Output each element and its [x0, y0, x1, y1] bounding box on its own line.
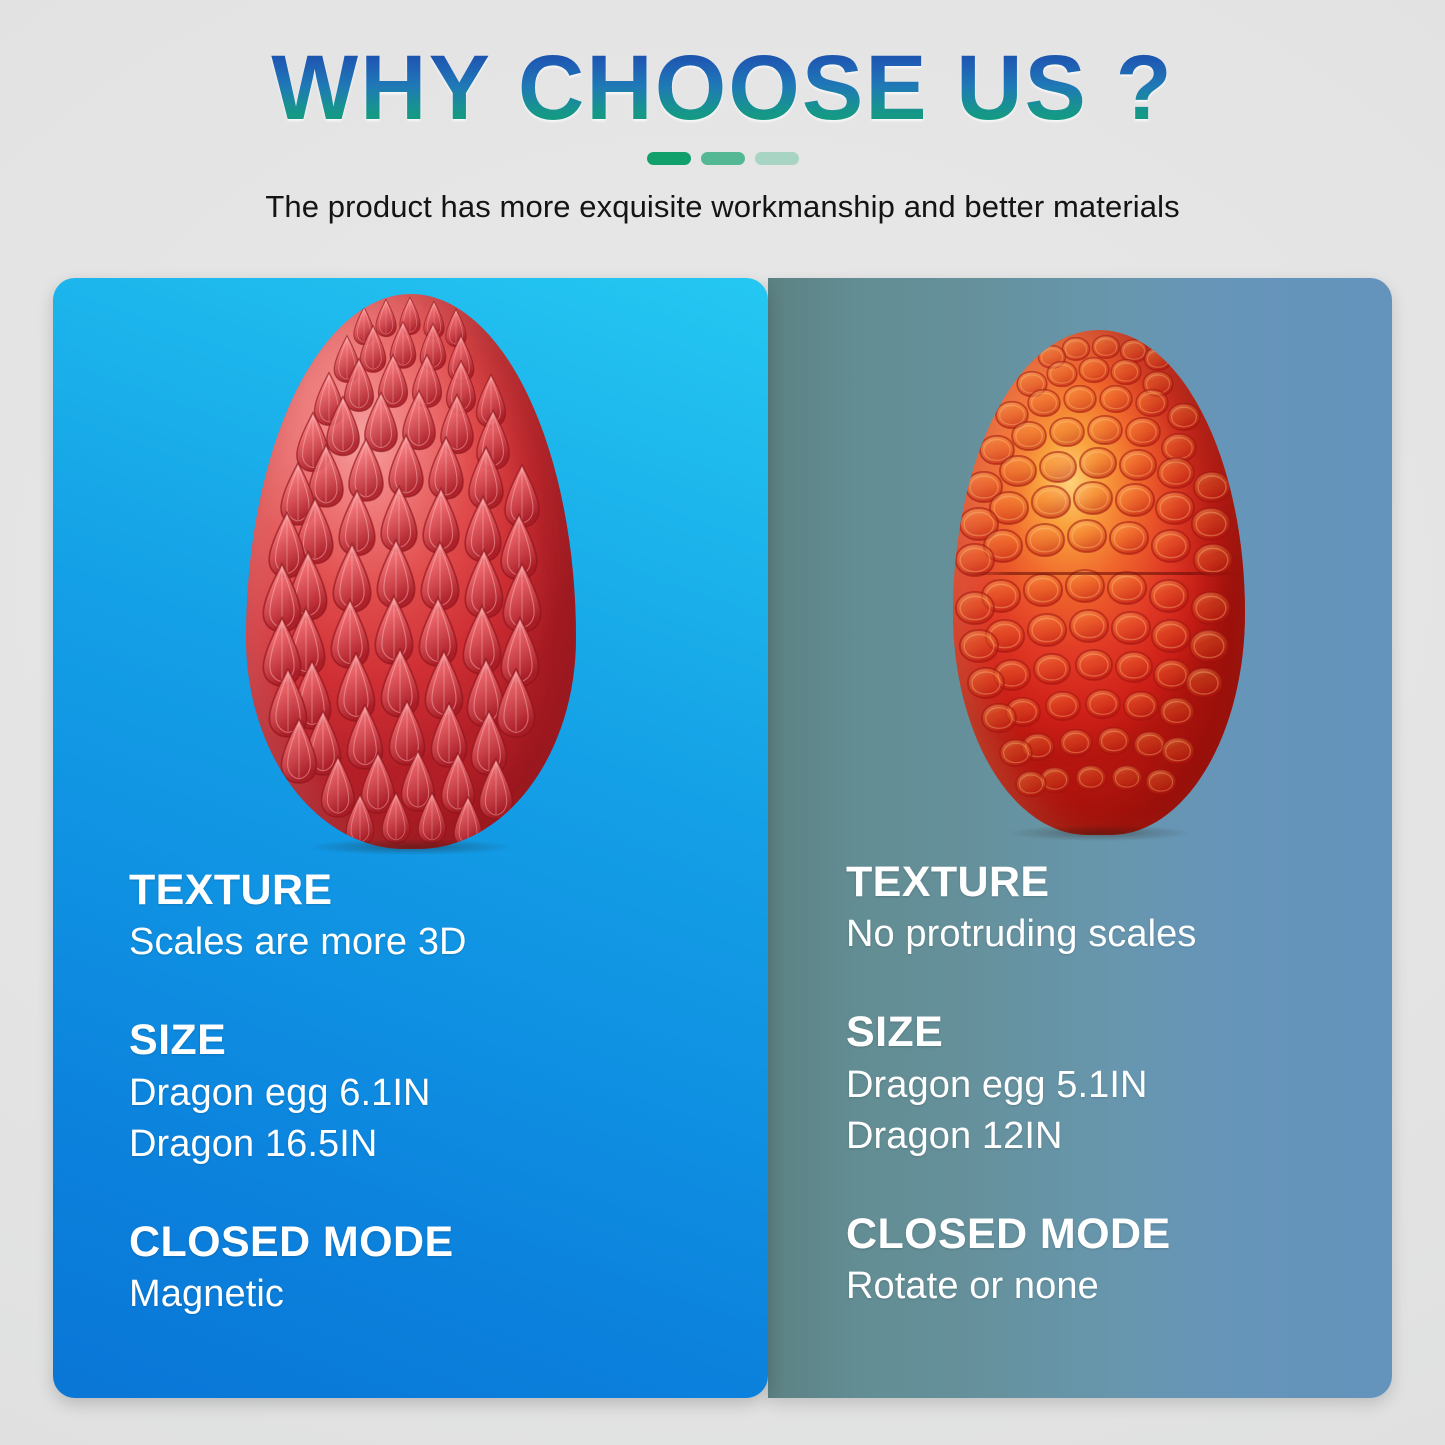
spec-block-texture: TEXTURE Scales are more 3D [129, 866, 738, 968]
spec-block-closed-mode: CLOSED MODE Rotate or none [846, 1210, 1362, 1312]
spec-title: SIZE [129, 1016, 738, 1064]
spec-line: Scales are more 3D [129, 917, 738, 968]
flat-scales-texture [953, 330, 1245, 835]
spec-line: Dragon 16.5IN [129, 1119, 738, 1170]
spec-title: TEXTURE [846, 858, 1362, 906]
spec-line: Magnetic [129, 1269, 738, 1320]
spec-title: CLOSED MODE [129, 1218, 738, 1266]
spec-line: Rotate or none [846, 1261, 1362, 1312]
spec-line: Dragon egg 5.1IN [846, 1060, 1362, 1111]
spec-block-texture: TEXTURE No protruding scales [846, 858, 1362, 960]
pointed-scales-texture [246, 294, 576, 849]
page-title: WHY CHOOSE US ? [271, 42, 1173, 134]
spec-block-size: SIZE Dragon egg 6.1IN Dragon 16.5IN [129, 1016, 738, 1170]
dragon-egg-flat-scales-image [953, 330, 1245, 835]
spec-title: CLOSED MODE [846, 1210, 1362, 1258]
dash-solid-icon [647, 152, 691, 165]
product-image-area-left [53, 278, 768, 868]
header: WHY CHOOSE US ? The product has more exq… [0, 0, 1445, 225]
dragon-egg-pointed-scales-image [246, 294, 576, 849]
spec-line: Dragon egg 6.1IN [129, 1068, 738, 1119]
dash-medium-icon [701, 152, 745, 165]
spec-title: TEXTURE [129, 866, 738, 914]
panel-other-product: TEXTURE No protruding scales SIZE Dragon… [768, 278, 1392, 1398]
egg-drop-shadow [1008, 825, 1189, 841]
spec-block-size: SIZE Dragon egg 5.1IN Dragon 12IN [846, 1008, 1362, 1162]
product-image-area-right [768, 278, 1392, 868]
egg-seam-line [959, 572, 1239, 575]
egg-drop-shadow [308, 839, 513, 855]
decorative-dashes [0, 152, 1445, 165]
spec-list-left: TEXTURE Scales are more 3D SIZE Dragon e… [129, 866, 738, 1321]
comparison-panels: TEXTURE Scales are more 3D SIZE Dragon e… [53, 278, 1392, 1398]
spec-line: Dragon 12IN [846, 1111, 1362, 1162]
spec-line: No protruding scales [846, 909, 1362, 960]
spec-title: SIZE [846, 1008, 1362, 1056]
dash-light-icon [755, 152, 799, 165]
page-subtitle: The product has more exquisite workmansh… [0, 189, 1445, 225]
spec-list-right: TEXTURE No protruding scales SIZE Dragon… [846, 858, 1362, 1313]
panel-our-product: TEXTURE Scales are more 3D SIZE Dragon e… [53, 278, 768, 1398]
spec-block-closed-mode: CLOSED MODE Magnetic [129, 1218, 738, 1320]
